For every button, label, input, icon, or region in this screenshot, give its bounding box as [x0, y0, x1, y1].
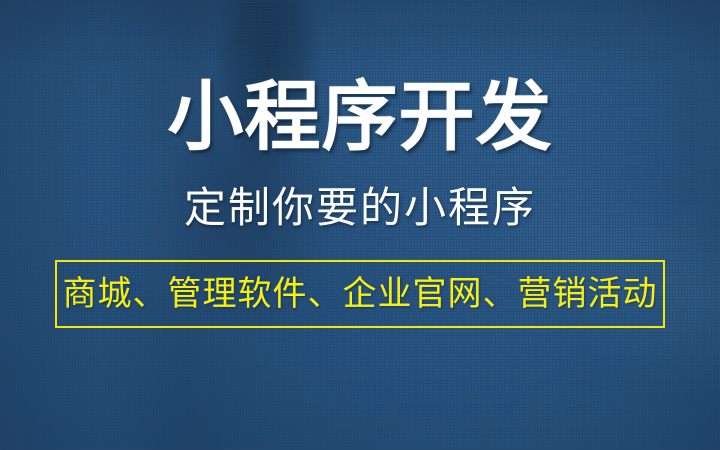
- tagline-text: 商城、管理软件、企业官网、营销活动: [63, 277, 658, 311]
- banner-content: 小程序开发 定制你要的小程序 商城、管理软件、企业官网、营销活动: [0, 0, 720, 450]
- promo-banner: 小程序开发 定制你要的小程序 商城、管理软件、企业官网、营销活动: [0, 0, 720, 450]
- tagline-box: 商城、管理软件、企业官网、营销活动: [55, 260, 665, 328]
- banner-headline: 小程序开发: [0, 80, 720, 156]
- banner-subheadline: 定制你要的小程序: [0, 187, 720, 229]
